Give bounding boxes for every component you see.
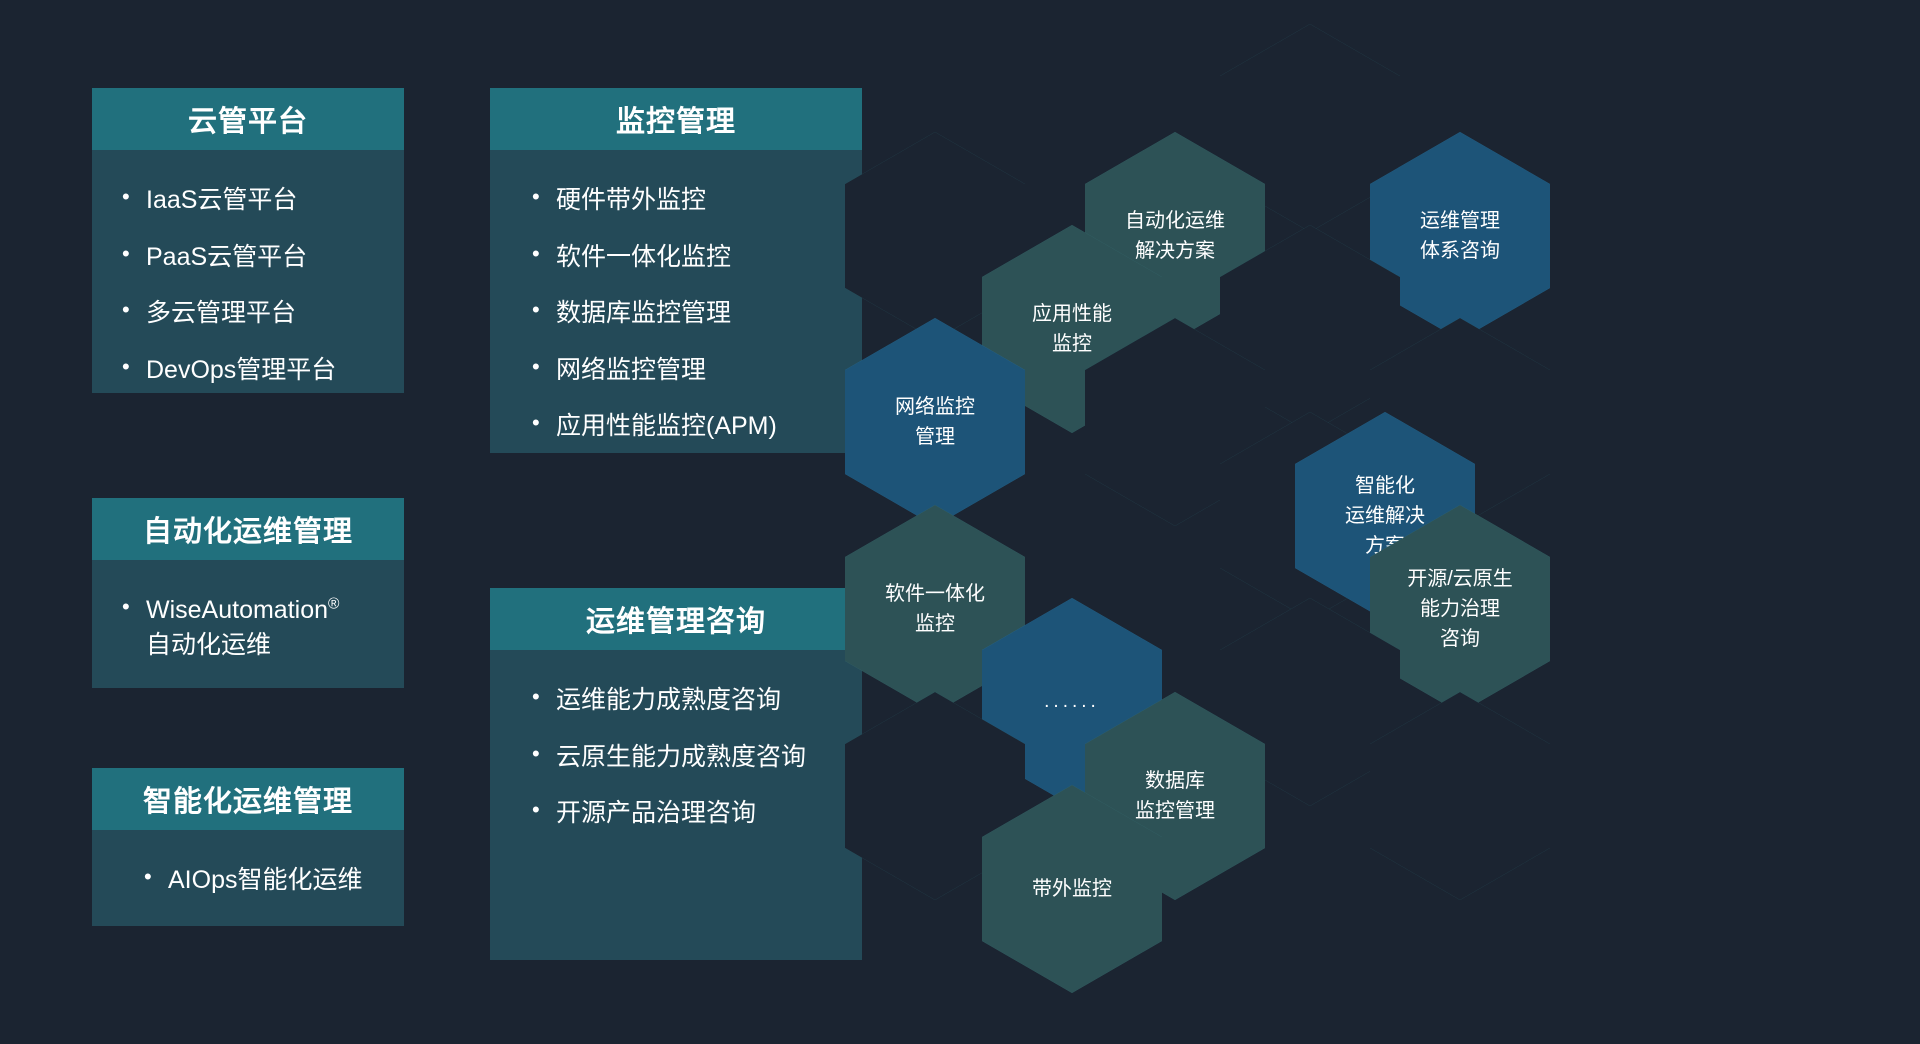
list-item: 应用性能监控(APM) — [532, 409, 844, 444]
card-monitoring-title: 监控管理 — [490, 88, 862, 150]
card-cloud-platform[interactable]: 云管平台 IaaS云管平台 PaaS云管平台 多云管理平台 DevOps管理平台 — [92, 88, 404, 393]
list-item: 硬件带外监控 — [532, 183, 844, 218]
list-item: DevOps管理平台 — [122, 353, 386, 388]
card-automation-ops[interactable]: 自动化运维管理 WiseAutomation®自动化运维 — [92, 498, 404, 688]
card-automation-ops-body: WiseAutomation®自动化运维 — [92, 560, 404, 688]
card-ops-consulting-body: 运维能力成熟度咨询 云原生能力成熟度咨询 开源产品治理咨询 — [490, 650, 862, 960]
list-item: AIOps智能化运维 — [144, 863, 386, 898]
card-automation-ops-title: 自动化运维管理 — [92, 498, 404, 560]
hexagon-label: 网络监控 管理 — [895, 392, 975, 452]
card-aiops-title: 智能化运维管理 — [92, 768, 404, 830]
list-item-text: WiseAutomation — [146, 596, 328, 624]
card-ops-consulting-title: 运维管理咨询 — [490, 588, 862, 650]
hexagon-label: 自动化运维 解决方案 — [1125, 206, 1225, 266]
list-item: 运维能力成熟度咨询 — [532, 683, 844, 718]
hexagon-diagram: 自动化运维 解决方案运维管理 体系咨询应用性能 监控网络监控 管理智能化 运维解… — [940, 10, 1920, 1030]
card-monitoring[interactable]: 监控管理 硬件带外监控 软件一体化监控 数据库监控管理 网络监控管理 应用性能监… — [490, 88, 862, 453]
hexagon-label: 应用性能 监控 — [1032, 299, 1112, 359]
card-cloud-platform-body: IaaS云管平台 PaaS云管平台 多云管理平台 DevOps管理平台 — [92, 150, 404, 393]
list-item: 多云管理平台 — [122, 296, 386, 331]
registered-mark: ® — [328, 596, 339, 613]
list-item: 网络监控管理 — [532, 353, 844, 388]
hexagon-label: 开源/云原生 能力治理 咨询 — [1407, 564, 1513, 654]
hexagon-label: 运维管理 体系咨询 — [1420, 206, 1500, 266]
slide-root: 云管平台 IaaS云管平台 PaaS云管平台 多云管理平台 DevOps管理平台… — [0, 0, 1920, 1044]
card-aiops-body: AIOps智能化运维 — [92, 830, 404, 926]
list-item: 云原生能力成熟度咨询 — [532, 740, 844, 775]
list-item: 软件一体化监控 — [532, 240, 844, 275]
card-monitoring-body: 硬件带外监控 软件一体化监控 数据库监控管理 网络监控管理 应用性能监控(APM… — [490, 150, 862, 453]
hexagon-label: 软件一体化 监控 — [885, 579, 985, 639]
list-item: 开源产品治理咨询 — [532, 796, 844, 831]
list-item: IaaS云管平台 — [122, 183, 386, 218]
list-item-text-line2: 自动化运维 — [146, 631, 271, 659]
list-item: WiseAutomation®自动化运维 — [122, 593, 386, 662]
hexagon-label: 带外监控 — [1032, 874, 1112, 904]
hexagon-label: 数据库 监控管理 — [1135, 766, 1215, 826]
card-ops-consulting[interactable]: 运维管理咨询 运维能力成熟度咨询 云原生能力成熟度咨询 开源产品治理咨询 — [490, 588, 862, 960]
card-aiops[interactable]: 智能化运维管理 AIOps智能化运维 — [92, 768, 404, 926]
service-cards-area: 云管平台 IaaS云管平台 PaaS云管平台 多云管理平台 DevOps管理平台… — [92, 88, 892, 958]
hexagon-label: ...... — [1044, 688, 1100, 717]
list-item: 数据库监控管理 — [532, 296, 844, 331]
card-cloud-platform-title: 云管平台 — [92, 88, 404, 150]
list-item: PaaS云管平台 — [122, 240, 386, 275]
